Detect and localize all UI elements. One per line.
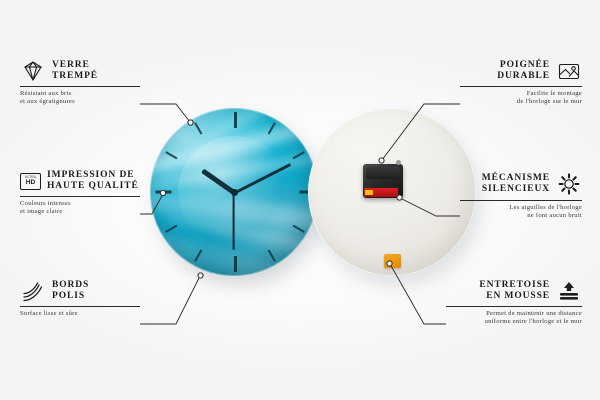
feature-impression-haute-qualite: ULTRA HD IMPRESSION DE HAUTE QUALITÉ Cou…	[20, 170, 140, 217]
divider	[20, 306, 140, 307]
feature-title-line: TREMPÉ	[52, 71, 98, 81]
feature-subtitle-line: Les aiguilles de l'horloge	[460, 204, 582, 212]
feature-subtitle-line: uniforme entre l'horloge et le mur	[446, 318, 582, 326]
feature-subtitle-line: et image claire	[20, 208, 140, 216]
feature-title-line: SILENCIEUX	[482, 184, 550, 194]
feature-title-line: BORDS	[52, 280, 89, 290]
feature-subtitle-line: Surface lisse et sûre	[20, 310, 140, 318]
gear-icon	[556, 172, 582, 196]
polished-edges-icon	[20, 280, 46, 302]
feature-verre-trempe: VERRE TREMPÉ Résistant aux bris et aux é…	[20, 60, 140, 107]
divider	[460, 200, 582, 201]
ultra-hd-badge-big-text: HD	[26, 179, 36, 186]
feature-title-line: EN MOUSSE	[486, 291, 550, 301]
feature-title-line: HAUTE QUALITÉ	[47, 181, 139, 191]
feature-mecanisme-silencieux: MÉCANISME SILENCIEUX Les aiguilles de l'…	[460, 172, 582, 221]
feature-title-line: POIGNÉE	[500, 60, 550, 70]
foam-spacer-stack-icon	[556, 280, 582, 302]
divider	[20, 196, 140, 197]
feature-bords-polis: BORDS POLIS Surface lisse et sûre	[20, 280, 140, 318]
feature-title-line: DURABLE	[497, 71, 550, 81]
feature-title-line: MÉCANISME	[482, 173, 550, 183]
feature-poignee-durable: POIGNÉE DURABLE Facilite le montage de l…	[460, 60, 582, 107]
feature-subtitle-line: Permet de maintenir une distance	[446, 310, 582, 318]
feature-subtitle-line: ne font aucun bruit	[460, 212, 582, 220]
feature-subtitle-line: Facilite le montage	[460, 90, 582, 98]
divider	[20, 86, 140, 87]
picture-hanger-icon	[556, 60, 582, 82]
feature-subtitle-line: Résistant aux bris	[20, 90, 140, 98]
feature-title-line: POLIS	[52, 291, 85, 301]
feature-title-line: ENTRETOISE	[479, 280, 550, 290]
divider	[446, 306, 582, 307]
feature-title-line: IMPRESSION DE	[47, 170, 134, 180]
feature-subtitle-line: et aux égratignures	[20, 98, 140, 106]
divider	[460, 86, 582, 87]
feature-subtitle-line: Couleurs intenses	[20, 200, 140, 208]
feature-entretoise-en-mousse: ENTRETOISE EN MOUSSE Permet de maintenir…	[446, 280, 582, 327]
feature-title-line: VERRE	[52, 60, 90, 70]
infographic-canvas: VERRE TREMPÉ Résistant aux bris et aux é…	[0, 0, 600, 400]
ultra-hd-badge-icon: ULTRA HD	[20, 173, 41, 190]
feature-subtitle-line: de l'horloge sur le mur	[460, 98, 582, 106]
diamond-icon	[20, 60, 46, 82]
